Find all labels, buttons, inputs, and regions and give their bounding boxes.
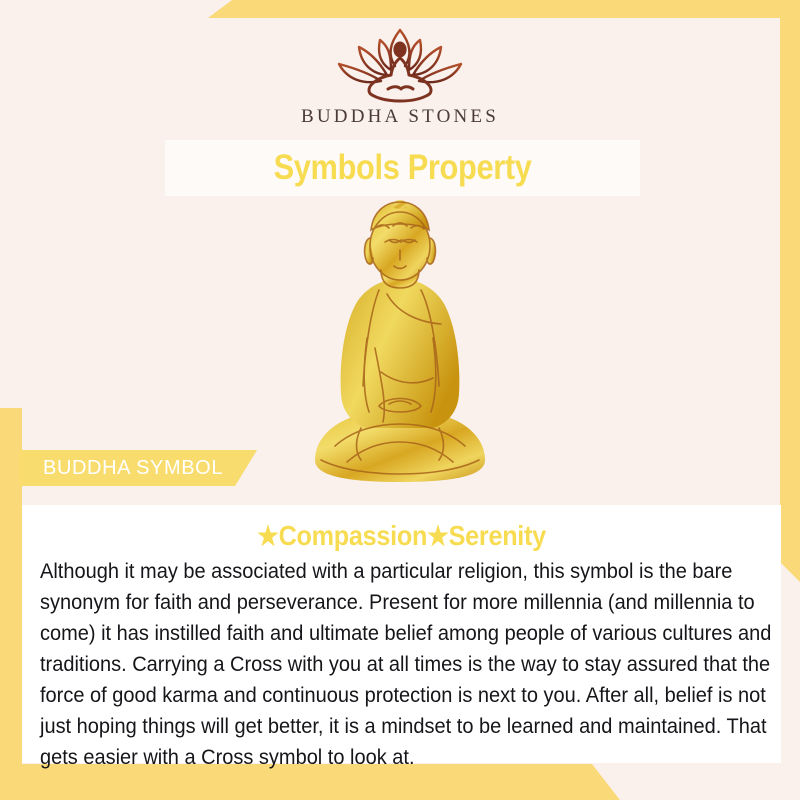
page-title: Symbols Property <box>274 148 532 188</box>
buddha-symbol-tag: BUDDHA SYMBOL <box>19 450 257 486</box>
content-body: Although it may be associated with a par… <box>40 556 784 773</box>
content-subtitle: ★Compassion★Serenity <box>69 521 734 552</box>
brand-wordmark: BUDDHA STONES <box>301 106 499 128</box>
star-icon-right: ★ <box>427 521 449 551</box>
star-icon-left: ★ <box>257 521 279 551</box>
brand-header: BUDDHA STONES <box>0 0 800 140</box>
page-root: BUDDHA STONES Symbols Property <box>0 0 800 800</box>
seated-buddha-statue-icon <box>301 198 499 490</box>
subtitle-serenity: Serenity <box>449 520 546 551</box>
content-card: ★Compassion★Serenity Although it may be … <box>22 505 781 763</box>
buddha-symbol-tag-label: BUDDHA SYMBOL <box>43 457 223 480</box>
subtitle-compassion: Compassion <box>279 520 428 551</box>
title-banner: Symbols Property <box>165 140 640 196</box>
lotus-meditation-icon <box>325 22 475 104</box>
